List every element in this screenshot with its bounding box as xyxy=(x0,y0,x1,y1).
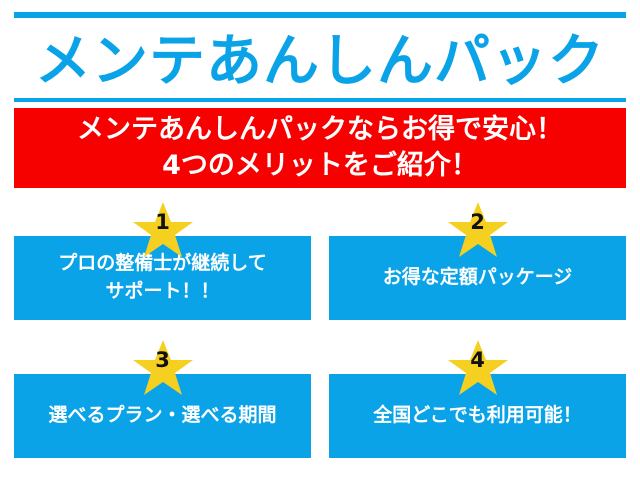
title-underline-divider xyxy=(14,98,626,102)
headline-line-1: メンテあんしんパックならお得で安心！ xyxy=(77,112,563,148)
benefit-number-2: 2 xyxy=(470,212,485,233)
benefit-text-1-line-2: サポート！！ xyxy=(105,278,219,306)
benefit-text-2-line-1: お得な定額パッケージ xyxy=(383,264,573,292)
benefit-item-4: 4 全国どこでも利用可能！ xyxy=(329,338,626,462)
benefits-grid: 1 プロの整備士が継続して サポート！！ 2 お得な定額パッケージ xyxy=(14,200,626,462)
star-icon: 3 xyxy=(132,338,194,398)
benefit-item-2: 2 お得な定額パッケージ xyxy=(329,200,626,324)
star-icon: 1 xyxy=(132,200,194,260)
benefit-text-4-line-1: 全国どこでも利用可能！ xyxy=(373,402,581,430)
star-icon: 4 xyxy=(447,338,509,398)
benefit-item-3: 3 選べるプラン・選べる期間 xyxy=(14,338,311,462)
benefit-number-3: 3 xyxy=(155,350,170,371)
star-icon: 2 xyxy=(447,200,509,260)
benefit-item-1: 1 プロの整備士が継続して サポート！！ xyxy=(14,200,311,324)
benefit-number-1: 1 xyxy=(155,212,170,233)
page-title: メンテあんしんパック xyxy=(0,16,640,96)
benefit-text-3-line-1: 選べるプラン・選べる期間 xyxy=(48,402,276,430)
headline-banner: メンテあんしんパックならお得で安心！ 4つのメリットをご紹介！ xyxy=(14,108,626,188)
promo-poster: メンテあんしんパック メンテあんしんパックならお得で安心！ 4つのメリットをご紹… xyxy=(0,0,640,480)
headline-line-2: 4つのメリットをご紹介！ xyxy=(162,148,478,184)
benefit-number-4: 4 xyxy=(470,350,485,371)
